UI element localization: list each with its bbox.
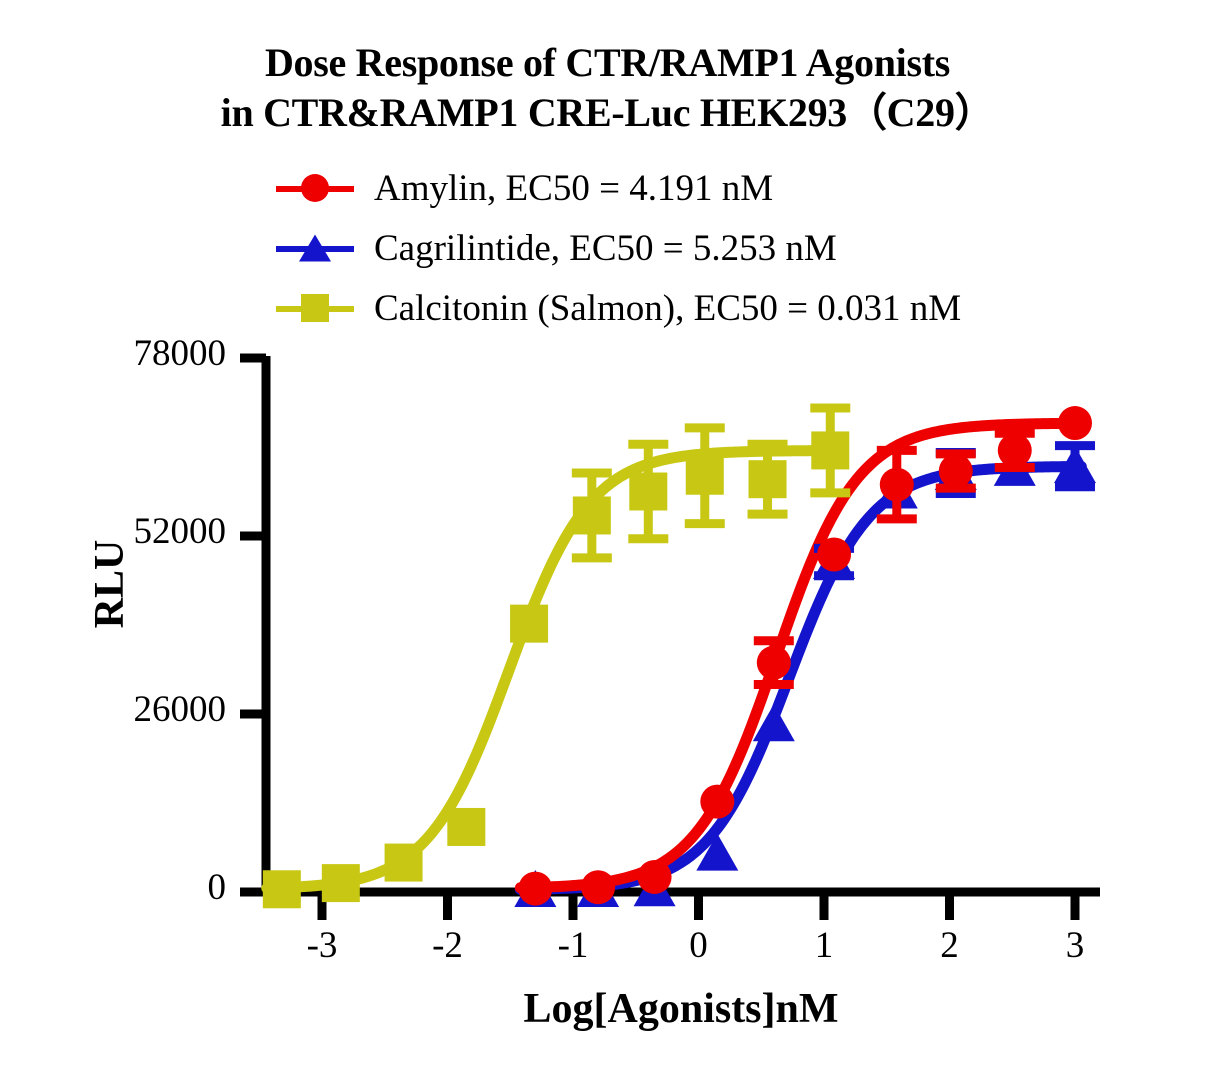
data-point-amylin [880, 468, 914, 502]
data-point-amylin [581, 870, 615, 904]
data-point-calcitonin-salmon- [447, 808, 485, 846]
x-tick-label: -1 [543, 924, 603, 967]
x-tick-label: 1 [794, 924, 854, 967]
data-point-amylin [518, 872, 552, 906]
data-point-calcitonin-salmon- [385, 844, 423, 882]
data-point-calcitonin-salmon- [811, 431, 849, 469]
data-point-calcitonin-salmon- [573, 496, 611, 534]
data-point-amylin [638, 860, 672, 894]
data-point-calcitonin-salmon- [686, 457, 724, 495]
data-point-amylin [998, 433, 1032, 467]
data-point-amylin [817, 537, 851, 571]
chart-figure: Dose Response of CTR/RAMP1 Agonists in C… [0, 0, 1215, 1080]
data-point-amylin [1058, 406, 1092, 440]
x-tick-label: 0 [669, 924, 729, 967]
y-tick-label: 26000 [56, 688, 226, 731]
data-point-calcitonin-salmon- [322, 864, 360, 902]
data-point-amylin [700, 785, 734, 819]
data-point-amylin [939, 454, 973, 488]
x-tick-label: -3 [292, 924, 352, 967]
data-point-calcitonin-salmon- [263, 870, 301, 908]
data-point-calcitonin-salmon- [510, 605, 548, 643]
x-tick-label: 3 [1045, 924, 1105, 967]
data-point-calcitonin-salmon- [629, 473, 667, 511]
y-tick-label: 52000 [56, 510, 226, 553]
data-point-amylin [757, 646, 791, 680]
y-tick-label: 0 [56, 866, 226, 909]
x-tick-label: 2 [920, 924, 980, 967]
x-tick-label: -2 [418, 924, 478, 967]
y-tick-label: 78000 [56, 332, 226, 375]
data-point-calcitonin-salmon- [749, 460, 787, 498]
